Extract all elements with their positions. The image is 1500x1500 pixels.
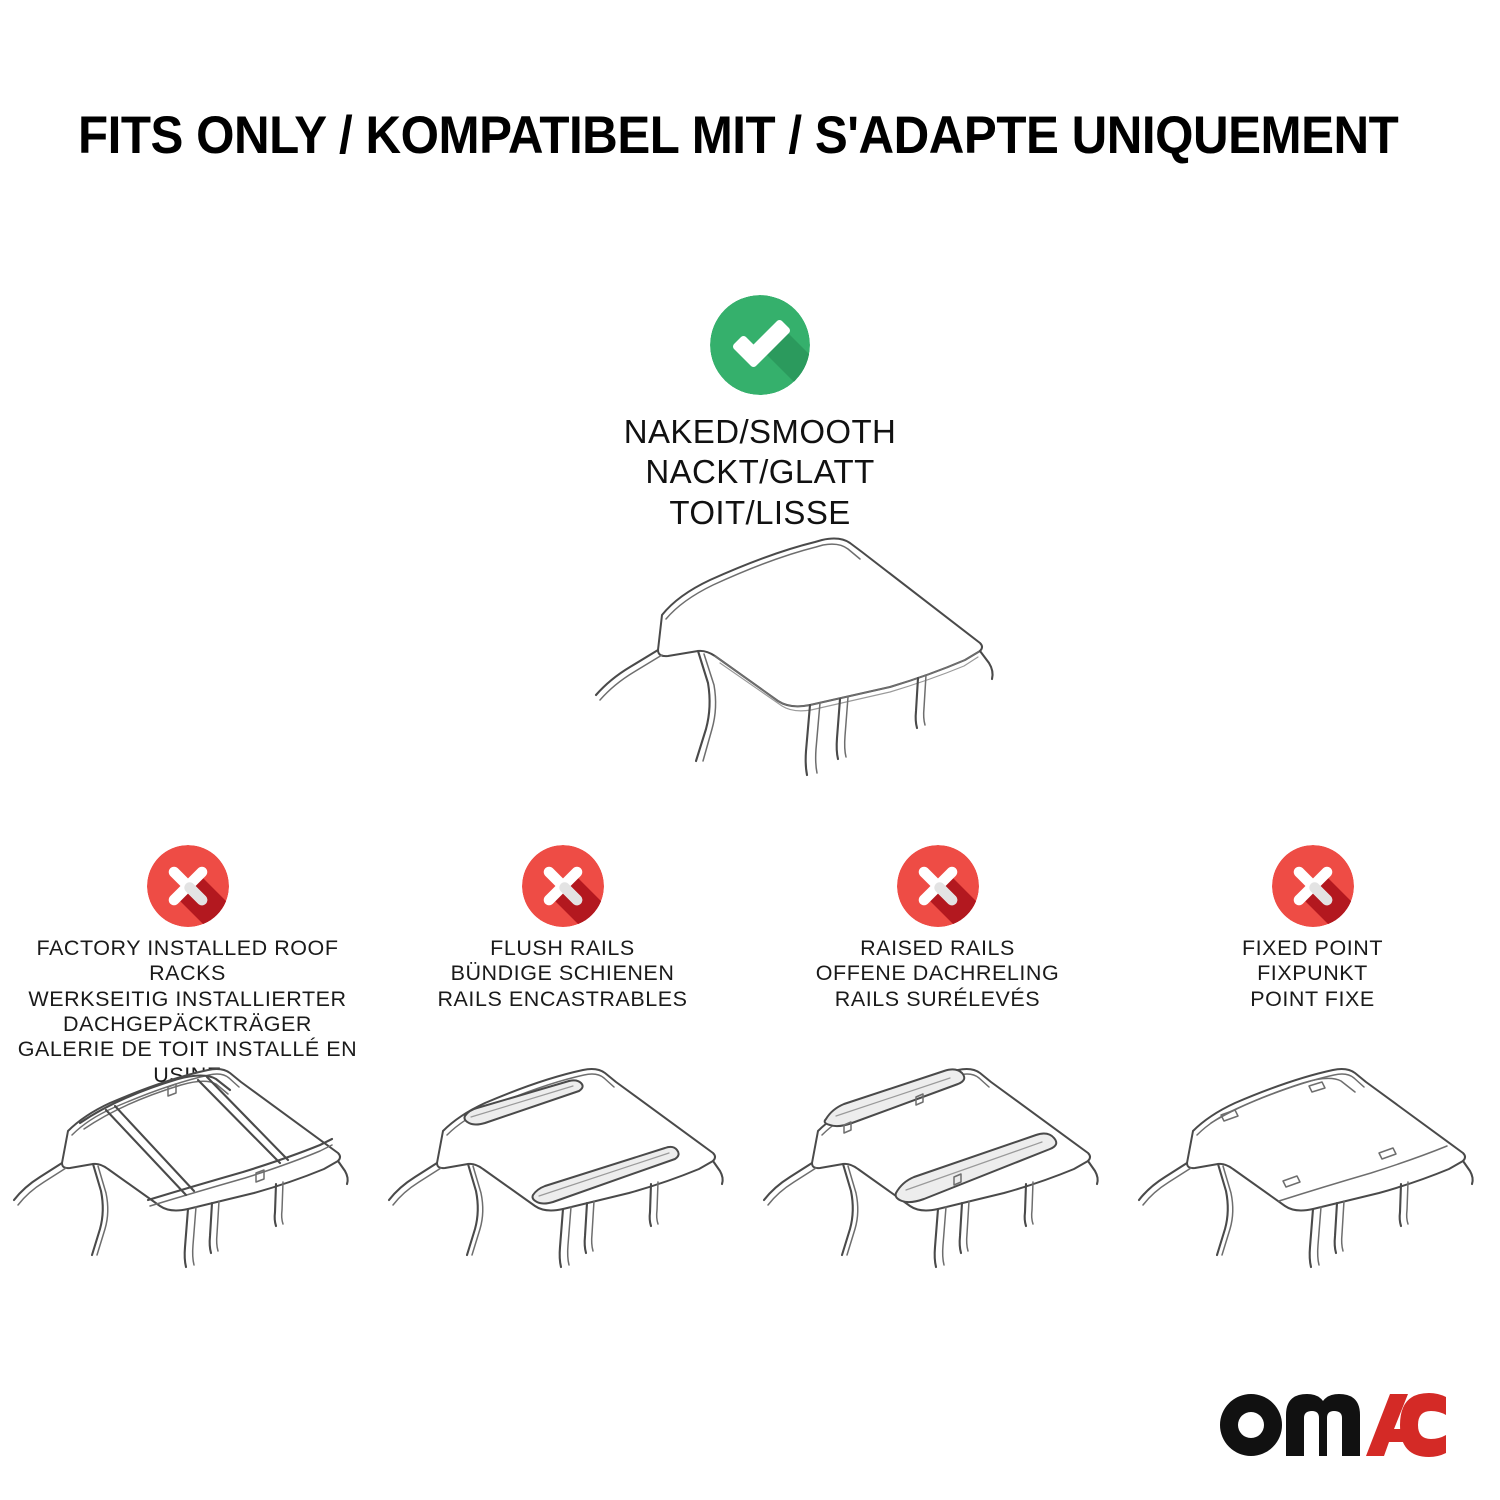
caption-line: POINT FIXE	[1242, 987, 1383, 1012]
compatible-caption: NAKED/SMOOTH NACKT/GLATT TOIT/LISSE	[500, 412, 1020, 533]
incompatible-group-factory-rack: FACTORY INSTALLED ROOF RACKS WERKSEITIG …	[0, 845, 375, 1088]
caption-line: RAISED RAILS	[816, 936, 1060, 961]
car-roof-flush-rails-illustration	[373, 1053, 753, 1283]
check-circle-icon	[710, 295, 810, 395]
incompatible-caption: FIXED POINT FIXPUNKT POINT FIXE	[1242, 936, 1383, 1012]
caption-line: DACHGEPÄCKTRÄGER	[0, 1012, 375, 1037]
caption-line: FIXPUNKT	[1242, 961, 1383, 986]
caption-line: FACTORY INSTALLED ROOF RACKS	[0, 936, 375, 987]
car-roof-naked-smooth-illustration	[510, 523, 1010, 793]
cross-circle-icon	[522, 845, 604, 927]
caption-line: BÜNDIGE SCHIENEN	[437, 961, 687, 986]
cross-circle-icon	[1272, 845, 1354, 927]
page-title: FITS ONLY / KOMPATIBEL MIT / S'ADAPTE UN…	[78, 108, 1343, 164]
caption-line: WERKSEITIG INSTALLIERTER	[0, 987, 375, 1012]
caption-line: FIXED POINT	[1242, 936, 1383, 961]
caption-line: NACKT/GLATT	[500, 452, 1020, 492]
fitment-compatibility-infographic: FITS ONLY / KOMPATIBEL MIT / S'ADAPTE UN…	[0, 0, 1500, 1500]
caption-line: NAKED/SMOOTH	[500, 412, 1020, 452]
incompatible-group-flush-rails: FLUSH RAILS BÜNDIGE SCHIENEN RAILS ENCAS…	[375, 845, 750, 1088]
car-roof-factory-rack-illustration	[0, 1053, 378, 1283]
caption-line: OFFENE DACHRELING	[816, 961, 1060, 986]
cross-circle-icon	[897, 845, 979, 927]
omac-logo	[1218, 1392, 1448, 1458]
incompatible-group-raised-rails: RAISED RAILS OFFENE DACHRELING RAILS SUR…	[750, 845, 1125, 1088]
caption-line: RAILS ENCASTRABLES	[437, 987, 687, 1012]
compatible-group: NAKED/SMOOTH NACKT/GLATT TOIT/LISSE	[500, 295, 1020, 533]
caption-line: RAILS SURÉLEVÉS	[816, 987, 1060, 1012]
incompatible-group-fixed-point: FIXED POINT FIXPUNKT POINT FIXE	[1125, 845, 1500, 1088]
incompatible-caption: RAISED RAILS OFFENE DACHRELING RAILS SUR…	[816, 936, 1060, 1012]
car-roof-fixed-point-illustration	[1123, 1053, 1500, 1283]
incompatible-row: FACTORY INSTALLED ROOF RACKS WERKSEITIG …	[0, 845, 1500, 1088]
cross-circle-icon	[147, 845, 229, 927]
car-roof-raised-rails-illustration	[748, 1053, 1128, 1283]
incompatible-caption: FLUSH RAILS BÜNDIGE SCHIENEN RAILS ENCAS…	[437, 936, 687, 1012]
caption-line: FLUSH RAILS	[437, 936, 687, 961]
